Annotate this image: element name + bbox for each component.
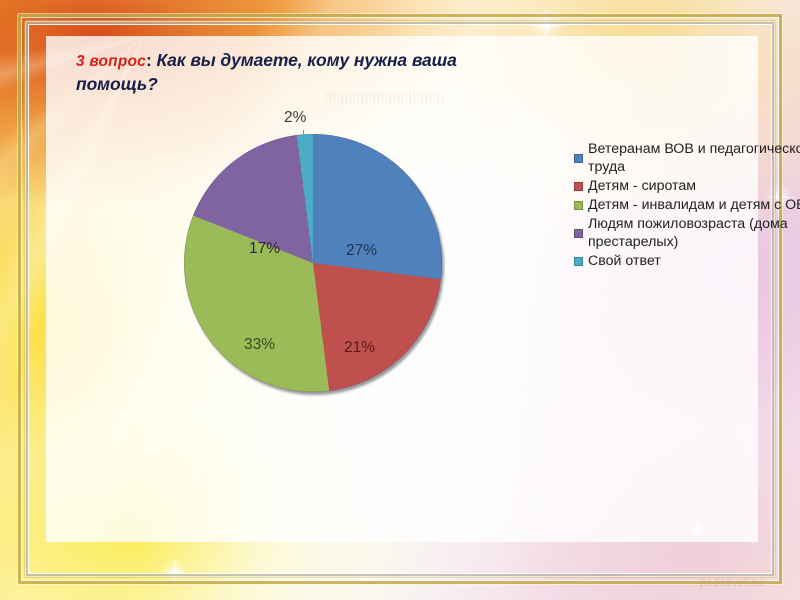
leader-line	[303, 130, 304, 145]
legend-item-label: Детям - инвалидам и детям с ОВЗ	[588, 196, 800, 214]
slide-content-plate: 3 вопрос: Как вы думаете, кому нужна ваш…	[46, 36, 758, 542]
legend-swatch-icon	[574, 182, 583, 191]
slice-value-label: 17%	[249, 240, 280, 258]
legend-swatch-icon	[574, 154, 583, 163]
legend-item-label: Детям - сиротам	[588, 177, 800, 195]
title-colon: :	[146, 50, 152, 70]
pie-chart: 27% 21% 33% 17% 2% Ветеранам ВОВ и педаг…	[166, 116, 746, 446]
legend-swatch-icon	[574, 201, 583, 210]
legend-item: Детям - инвалидам и детям с ОВЗ	[574, 196, 800, 214]
legend-item: Людям пожиловозраста (дома престарелых)	[574, 215, 800, 251]
legend-item-label: Ветеранам ВОВ и педагогического труда	[588, 140, 800, 176]
legend-item: Свой ответ	[574, 252, 800, 270]
legend-swatch-icon	[574, 257, 583, 266]
title-question-number: 3 вопрос	[76, 53, 146, 70]
legend-item: Детям - сиротам	[574, 177, 800, 195]
legend-item-label: Свой ответ	[588, 252, 800, 270]
slice-value-label: 21%	[344, 339, 375, 357]
chart-legend: Ветеранам ВОВ и педагогического труда Де…	[574, 140, 800, 271]
slice-value-label: 33%	[244, 336, 275, 354]
legend-swatch-icon	[574, 229, 583, 238]
slice-value-label: 27%	[346, 242, 377, 260]
site-watermark: pedsovet.su	[700, 577, 764, 589]
pie-graphic: 27% 21% 33% 17% 2%	[166, 124, 466, 424]
legend-item-label: Людям пожиловозраста (дома престарелых)	[588, 215, 800, 251]
slice-value-label: 2%	[284, 109, 306, 127]
decorative-tick-strip	[326, 90, 496, 104]
legend-item: Ветеранам ВОВ и педагогического труда	[574, 140, 800, 176]
presentation-slide: 3 вопрос: Как вы думаете, кому нужна ваш…	[0, 0, 800, 600]
pie-slices	[184, 134, 442, 392]
